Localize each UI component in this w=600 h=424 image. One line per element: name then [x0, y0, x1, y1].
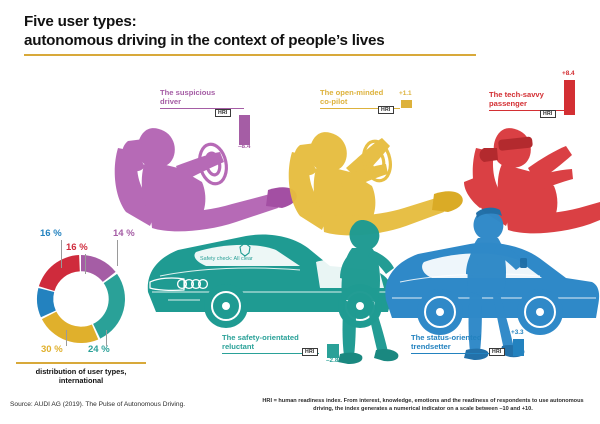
illustration-layer: Safety check: All clear [0, 0, 600, 424]
leader-line-blue [61, 240, 62, 268]
hri-bar-open-minded-co-pilot [401, 100, 412, 108]
title-line-1: Five user types: [24, 13, 136, 30]
illustration-teal-car: Safety check: All clear [148, 235, 393, 329]
title-line-2: autonomous driving in the context of peo… [24, 32, 385, 49]
user-type-title: The open-minded co-pilot [320, 88, 400, 107]
user-type-underline [160, 108, 244, 109]
donut-label-red: 16 % [66, 242, 88, 253]
source-note: Source: AUDI AG (2019). The Pulse of Aut… [10, 401, 185, 408]
donut-caption-rule [16, 362, 146, 364]
car-decal-text: Safety check: All clear [200, 256, 253, 262]
leader-line-red [85, 254, 86, 274]
illustration-tech-savvy-passenger [464, 128, 600, 233]
illustration-open-minded-co-pilot [289, 132, 463, 235]
hri-bar-status-oriented-trendsetter [513, 339, 524, 356]
user-type-title: The tech-savvy passenger [489, 90, 567, 109]
hri-value-safety-orientated-reluctant: –2.8 [326, 357, 338, 364]
title-underline-rule [24, 54, 476, 56]
donut-slice-purple [81, 255, 116, 282]
hri-bar-tech-savvy-passenger [564, 80, 575, 115]
user-type-tech-savvy-passenger[interactable]: The tech-savvy passenger [489, 90, 567, 111]
leader-line-yellow [66, 330, 67, 346]
page-title: Five user types: autonomous driving in t… [24, 12, 476, 56]
donut-slice-blue [37, 288, 56, 317]
hri-badge-status-oriented-trendsetter[interactable]: HRI [489, 348, 505, 356]
hri-value-open-minded-co-pilot: +1.1 [399, 90, 412, 97]
donut-caption: distribution of user types, internationa… [16, 362, 146, 386]
illustration-suspicious-driver [115, 128, 297, 231]
donut-slice-teal [93, 274, 125, 339]
hri-value-suspicious-driver: –8.4 [238, 143, 250, 150]
leader-line-purple [117, 240, 118, 266]
hri-bar-suspicious-driver [239, 115, 250, 145]
donut-label-blue: 16 % [40, 228, 62, 239]
infographic-canvas: Five user types: autonomous driving in t… [0, 0, 600, 424]
illustration-safety-orientated-reluctant [338, 220, 398, 364]
donut-label-purple: 14 % [113, 228, 135, 239]
hri-badge-open-minded-co-pilot[interactable]: HRI [378, 106, 394, 114]
donut-caption-text: distribution of user types, internationa… [16, 367, 146, 386]
donut-label-teal: 24 % [88, 344, 110, 355]
donut-label-yellow: 30 % [41, 344, 63, 355]
donut-slice-yellow [42, 312, 98, 343]
hri-bar-safety-orientated-reluctant [327, 344, 339, 358]
hri-value-tech-savvy-passenger: +8.4 [562, 70, 575, 77]
hri-badge-safety-orientated-reluctant[interactable]: HRI [302, 348, 318, 356]
donut-slice-red [39, 255, 80, 291]
user-type-suspicious-driver[interactable]: The suspicious driver [160, 88, 244, 109]
hri-definition-note: HRI = human readiness index. From intere… [252, 397, 594, 414]
illustration-blue-car [385, 243, 599, 335]
hri-value-status-oriented-trendsetter: +3.3 [511, 329, 524, 336]
hri-badge-tech-savvy-passenger[interactable]: HRI [540, 110, 556, 118]
user-type-title: The suspicious driver [160, 88, 244, 107]
hri-badge-suspicious-driver[interactable]: HRI [215, 109, 231, 117]
